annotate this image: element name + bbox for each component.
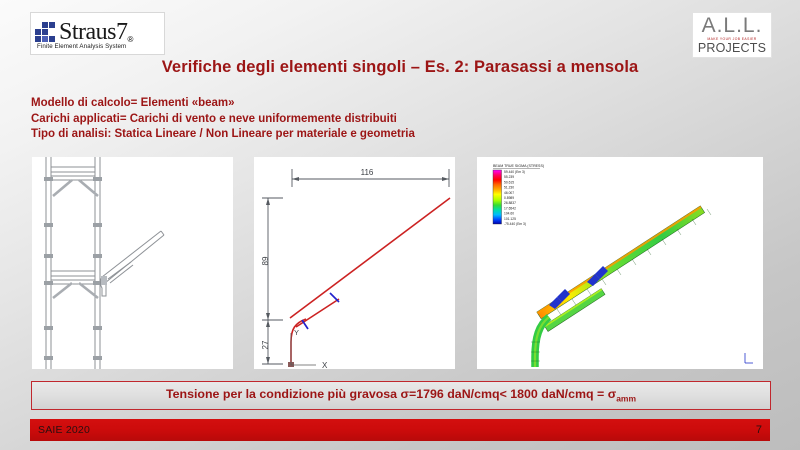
fea-legend-label-5: 0.8989 [504, 196, 514, 200]
dim-label-27: 27 [261, 340, 270, 349]
bullet-line-3: Tipo di analisi: Statica Lineare / Non L… [31, 127, 415, 143]
slide-bullet-list: Modello di calcolo= Elementi «beam» Cari… [31, 96, 415, 143]
fea-legend: BEAM TRUE SIGMA (STRESS) 59.440 (Em 3) 5… [493, 164, 544, 226]
fea-legend-label-7: 17.6542 [504, 206, 516, 210]
result-text-main: Tensione per la condizione più gravosa σ… [166, 387, 616, 401]
result-text: Tensione per la condizione più gravosa σ… [166, 387, 636, 403]
result-text-subscript: amm [616, 394, 636, 404]
fea-stress-contour: BEAM TRUE SIGMA (STRESS) 59.440 (Em 3) 5… [477, 157, 763, 369]
bullet-line-1: Modello di calcolo= Elementi «beam» [31, 96, 415, 112]
fea-legend-label-8: 104.60 [504, 212, 514, 216]
fea-legend-label-10: -75.440 (Em 3) [504, 222, 526, 226]
axis-y-label: Y [294, 328, 299, 337]
geometry-dimensioned-model: 116 89 27 [254, 157, 455, 369]
straus7-blocks-icon [35, 22, 57, 44]
fea-legend-label-4: 46.007 [504, 191, 514, 195]
straus7-logo: Straus7 ® Finite Element Analysis System [30, 12, 165, 55]
fea-legend-label-0: 59.440 (Em 3) [504, 170, 525, 174]
fea-legend-label-9: 101.125 [504, 217, 516, 221]
panel-geometry-model: 116 89 27 [254, 157, 455, 369]
panel-fea-result: BEAM TRUE SIGMA (STRESS) 59.440 (Em 3) 5… [477, 157, 763, 369]
fea-legend-label-6: 26.8837 [504, 201, 516, 205]
fea-legend-label-3: 51.230 [504, 186, 514, 190]
cad-scaffold-drawing [32, 157, 233, 369]
slide-footer: SAIE 2020 7 [30, 419, 770, 441]
allprojects-bottom-word: PROJECTS [698, 42, 766, 55]
result-callout-box: Tensione per la condizione più gravosa σ… [31, 381, 771, 410]
dim-label-116: 116 [361, 168, 374, 177]
fea-legend-label-1: 55.239 [504, 175, 514, 179]
beam-members [290, 198, 450, 365]
panel-cad-drawing [32, 157, 233, 369]
allprojects-tagline: MAKE YOUR JOB EASIER [707, 37, 756, 41]
axis-triad: X Y [291, 328, 328, 369]
slide-canvas: Straus7 ® Finite Element Analysis System… [0, 0, 800, 450]
axis-x-label: X [322, 361, 328, 369]
slide-title: Verifiche degli elementi singoli – Es. 2… [0, 58, 800, 77]
bullet-line-2: Carichi applicati= Carichi di vento e ne… [31, 112, 415, 128]
straus7-wordmark: Straus7 [59, 20, 128, 44]
dim-label-89: 89 [261, 256, 270, 265]
footer-event-label: SAIE 2020 [38, 424, 90, 436]
allprojects-logo: A.L.L. MAKE YOUR JOB EASIER PROJECTS [692, 12, 772, 58]
fea-legend-title: BEAM TRUE SIGMA (STRESS) [493, 164, 544, 168]
fea-beam-assembly [531, 206, 711, 367]
fea-legend-label-2: 50.615 [504, 180, 514, 184]
footer-page-number: 7 [756, 424, 762, 436]
dim-vertical-chain [262, 198, 283, 364]
cantilever-bracket [101, 231, 165, 296]
allprojects-top-word: A.L.L. [702, 16, 763, 36]
straus7-wordmark-row: Straus7 ® [31, 18, 164, 44]
fea-axis-marker [745, 353, 753, 363]
